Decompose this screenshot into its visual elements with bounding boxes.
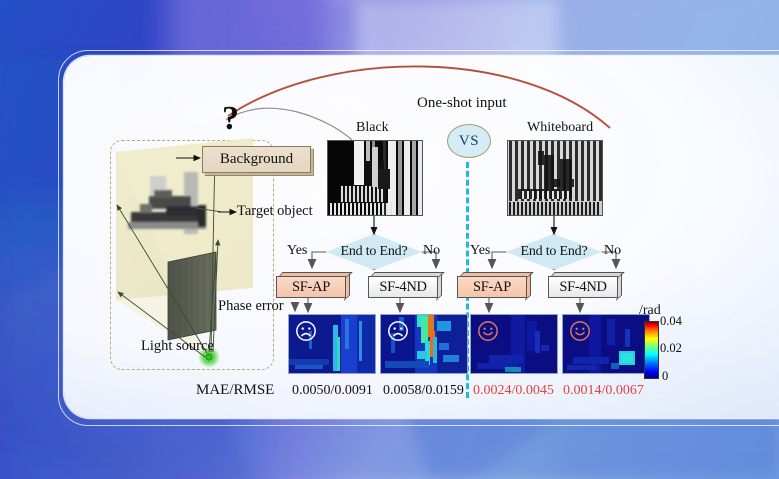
- method-box-sf-4nd-whiteboard: SF-4ND: [548, 272, 620, 296]
- error-map-black-sf-ap: [288, 314, 376, 374]
- colorbar-tick-max: 0.04: [660, 314, 682, 329]
- error-map-whiteboard-sf-4nd: [562, 314, 650, 374]
- one-shot-input-label: One-shot input: [417, 95, 507, 112]
- background-box: Background: [202, 146, 311, 173]
- decision-end-to-end-whiteboard: End to End?: [506, 234, 602, 270]
- vs-badge: VS: [447, 124, 491, 158]
- fringe-image-whiteboard: [507, 140, 603, 216]
- decision-label: End to End?: [326, 234, 422, 270]
- target-object-photo: [126, 172, 206, 237]
- happy-face-icon: [569, 320, 591, 342]
- branch-label-no-black: No: [423, 243, 440, 259]
- method-box-sf-ap-black: SF-AP: [276, 272, 348, 296]
- metric-whiteboard-sf-4nd: 0.0014/0.0067: [563, 383, 644, 399]
- whiteboard-group-label: Whiteboard: [527, 120, 593, 136]
- metrics-row-label: MAE/RMSE: [196, 382, 274, 399]
- decision-label: End to End?: [506, 234, 602, 270]
- sad-face-icon: [387, 320, 409, 342]
- colorbar: [644, 321, 659, 379]
- colorbar-tick-min: 0: [662, 369, 668, 384]
- branch-label-no-whiteboard: No: [604, 243, 621, 259]
- vs-label: VS: [459, 133, 479, 150]
- black-group-label: Black: [356, 120, 389, 136]
- method-box-sf-ap-whiteboard: SF-AP: [457, 272, 529, 296]
- method-label: SF-4ND: [368, 276, 438, 298]
- colorbar-unit-label: /rad: [639, 303, 661, 319]
- fringe-pattern-whiteboard: [508, 141, 602, 215]
- method-box-sf-4nd-black: SF-4ND: [368, 272, 440, 296]
- figure-content: ? Background Target object Light source …: [0, 0, 779, 479]
- light-source-label: Light source: [141, 338, 214, 355]
- target-object-label: Target object: [237, 203, 313, 220]
- phase-error-label: Phase error: [218, 298, 284, 315]
- metric-black-sf-4nd: 0.0058/0.0159: [383, 383, 464, 399]
- sad-face-icon: [295, 320, 317, 342]
- method-label: SF-AP: [276, 276, 346, 298]
- method-label: SF-4ND: [548, 276, 618, 298]
- fringe-pattern-black: [328, 141, 422, 215]
- branch-label-yes-whiteboard: Yes: [470, 243, 490, 259]
- error-map-whiteboard-sf-ap: [470, 314, 558, 374]
- branch-label-yes-black: Yes: [287, 243, 307, 259]
- metric-whiteboard-sf-ap: 0.0024/0.0045: [473, 383, 554, 399]
- method-label: SF-AP: [457, 276, 527, 298]
- background-box-label: Background: [203, 147, 310, 172]
- fringe-image-black: [327, 140, 423, 216]
- metric-black-sf-ap: 0.0050/0.0091: [292, 383, 373, 399]
- error-map-black-sf-4nd: [380, 314, 468, 374]
- decision-end-to-end-black: End to End?: [326, 234, 422, 270]
- happy-face-icon: [477, 320, 499, 342]
- question-mark-icon: ?: [222, 100, 239, 138]
- colorbar-tick-mid: 0.02: [660, 341, 682, 356]
